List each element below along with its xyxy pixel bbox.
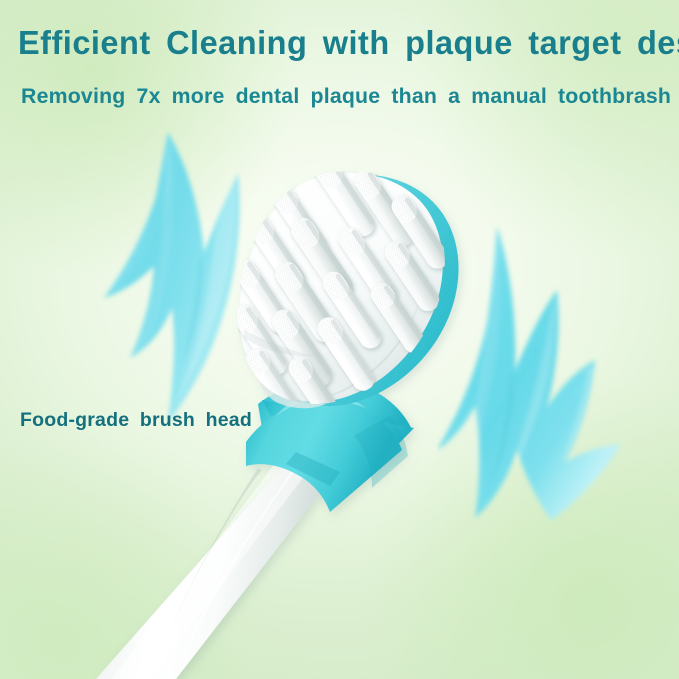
swoosh-right-icon <box>437 218 637 528</box>
product-feature-poster: Efficient Cleaning with plaque target de… <box>0 0 679 679</box>
feature-caption: Food-grade brush head <box>20 409 252 432</box>
